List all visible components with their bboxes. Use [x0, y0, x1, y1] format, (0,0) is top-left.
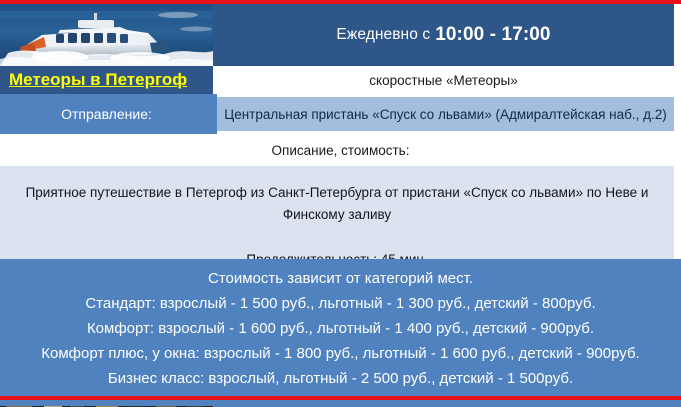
description-header-cell: Описание, стоимость:	[0, 134, 681, 166]
departure-pier-value: Центральная пристань «Спуск со львами» (…	[224, 107, 667, 122]
pricing-line-comfort: Комфорт: взрослый - 1 600 руб., льготный…	[0, 316, 681, 341]
departure-label: Отправление:	[61, 106, 152, 122]
meteor-peterhof-info-card: Ежедневно с 10:00 - 17:00 Метеоры в Пете…	[0, 0, 681, 407]
vessel-type-label: скоростные «Метеоры»	[369, 73, 517, 88]
bottom-red-divider	[0, 396, 681, 400]
top-red-divider	[0, 0, 681, 4]
boat-photo-illustration	[0, 3, 213, 66]
schedule-banner: Ежедневно с 10:00 - 17:00	[213, 3, 674, 66]
pricing-line-comfort-plus: Комфорт плюс, у окна: взрослый - 1 800 р…	[0, 341, 681, 366]
pricing-intro-line: Стоимость зависит от категорий мест.	[0, 266, 681, 291]
pricing-line-standard: Стандарт: взрослый - 1 500 руб., льготны…	[0, 291, 681, 316]
next-card-photo-strip	[0, 400, 681, 407]
pricing-line-business: Бизнес класс: взрослый, льготный - 2 500…	[0, 366, 681, 391]
description-body-cell: Приятное путешествие в Петергоф из Санкт…	[0, 166, 674, 259]
route-title-cell[interactable]: Метеоры в Петергоф	[0, 66, 213, 94]
vessel-type-cell: скоростные «Метеоры»	[213, 66, 674, 94]
departure-label-cell: Отправление:	[0, 94, 213, 134]
route-title-link[interactable]: Метеоры в Петергоф	[9, 70, 187, 90]
schedule-time-value: 10:00 - 17:00	[435, 24, 550, 46]
description-header-label: Описание, стоимость:	[272, 143, 410, 158]
hydrofoil-boat-photo	[0, 3, 213, 66]
description-text: Приятное путешествие в Петергоф из Санкт…	[22, 182, 652, 227]
pricing-block: Стоимость зависит от категорий мест. Ста…	[0, 259, 681, 396]
departure-value-cell: Центральная пристань «Спуск со львами» (…	[217, 97, 674, 131]
schedule-prefix-label: Ежедневно с	[336, 26, 430, 44]
